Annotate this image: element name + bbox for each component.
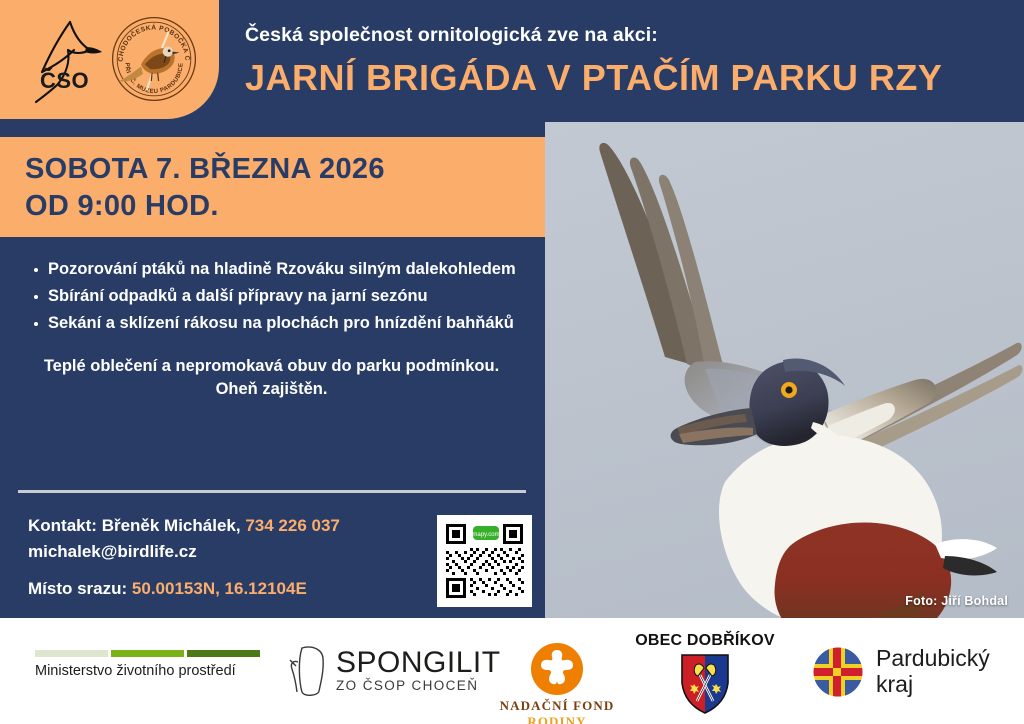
- ministry-bars-icon: [35, 650, 260, 657]
- page-title: JARNÍ BRIGÁDA V PTAČÍM PARKU RZY: [245, 60, 942, 96]
- section-divider: [18, 490, 526, 493]
- meeting-point-coordinates[interactable]: 50.00153N, 16.12104E: [132, 579, 307, 598]
- ministry-caption: Ministerstvo životního prostředí: [35, 663, 260, 679]
- contact-email[interactable]: michalek@birdlife.cz: [28, 539, 418, 565]
- nadacni-fond-line1: NADAČNÍ FOND: [497, 698, 617, 714]
- obec-dobrikov-crest-icon: [680, 653, 730, 715]
- pardubicky-kraj-wordmark: Pardubický kraj: [876, 646, 990, 698]
- regional-branch-seal-icon: VÝCHODOČESKÁ POBOČKA ČSO PŘI VČ. MUZEU P…: [108, 13, 200, 105]
- header: Česká společnost ornitologická zve na ak…: [245, 0, 1020, 119]
- northern-shoveler-duck-illustration: [545, 122, 1024, 618]
- contact-block: Kontakt: Břeněk Michálek, 734 226 037 mi…: [28, 513, 418, 599]
- sponsor-spongilit: SPONGILIT ZO ČSOP CHOCEŇ: [286, 642, 501, 700]
- list-item: Pozorování ptáků na hladině Rzováku siln…: [34, 259, 527, 281]
- sponsor-obec-dobrikov: OBEC DOBŘÍKOV: [630, 632, 780, 715]
- meeting-point-line: Místo srazu: 50.00153N, 16.12104E: [28, 579, 418, 599]
- contact-name: Břeněk Michálek,: [102, 516, 241, 535]
- contact-phone[interactable]: 734 226 037: [245, 516, 340, 535]
- hero-photo: Foto: Jiří Bohdal: [545, 122, 1024, 618]
- qr-code-icon: mapy.com: [437, 515, 532, 607]
- logo-block: ČSO VÝCHODOČESKÁ POBOČKA ČSO PŘI VČ. MUZ…: [0, 0, 219, 119]
- spongilit-sponge-icon: [286, 642, 330, 700]
- spongilit-subtitle: ZO ČSOP CHOCEŇ: [336, 678, 501, 693]
- obec-title: OBEC DOBŘÍKOV: [630, 632, 780, 650]
- cso-abbrev: ČSO: [40, 68, 89, 94]
- contact-person-line: Kontakt: Břeněk Michálek, 734 226 037: [28, 513, 418, 539]
- nadacni-fond-figure-icon: [530, 642, 584, 696]
- header-subtitle: Česká společnost ornitologická zve na ak…: [245, 24, 658, 47]
- list-item: Sekání a sklízení rákosu na plochách pro…: [34, 313, 527, 335]
- nadacni-fond-line2: RODINY MALÝCH: [497, 714, 617, 724]
- footer-sponsors: Ministerstvo životního prostředí SPONGIL…: [0, 618, 1024, 724]
- sponsor-ministry: Ministerstvo životního prostředí: [35, 650, 260, 679]
- qr-code[interactable]: mapy.com: [437, 515, 532, 607]
- event-date: SOBOTA 7. BŘEZNA 2026: [25, 155, 385, 184]
- task-list: Pozorování ptáků na hladině Rzováku siln…: [0, 237, 545, 335]
- qr-badge-label: mapy.com: [472, 532, 499, 538]
- kraj-line1: Pardubický: [876, 646, 990, 672]
- event-time: OD 9:00 HOD.: [25, 192, 219, 221]
- sponsor-nadacni-fond: NADAČNÍ FOND RODINY MALÝCH: [497, 642, 617, 724]
- poster-root: Foto: Jiří Bohdal ČSO VÝCHODOČESKÁ POBOČ…: [0, 0, 1024, 724]
- sponsor-pardubicky-kraj: Pardubický kraj: [812, 646, 990, 698]
- contact-label: Kontakt:: [28, 516, 97, 535]
- photo-credit: Foto: Jiří Bohdal: [905, 594, 1008, 608]
- spongilit-wordmark: SPONGILIT: [336, 649, 501, 678]
- pardubicky-kraj-emblem-icon: [812, 646, 864, 698]
- date-banner: SOBOTA 7. BŘEZNA 2026 OD 9:00 HOD.: [0, 137, 545, 237]
- requirements-note: Teplé oblečení a nepromokavá obuv do par…: [42, 355, 501, 401]
- meeting-point-label: Místo srazu:: [28, 579, 127, 598]
- kraj-line2: kraj: [876, 672, 990, 698]
- list-item: Sbírání odpadků a další přípravy na jarn…: [34, 286, 527, 308]
